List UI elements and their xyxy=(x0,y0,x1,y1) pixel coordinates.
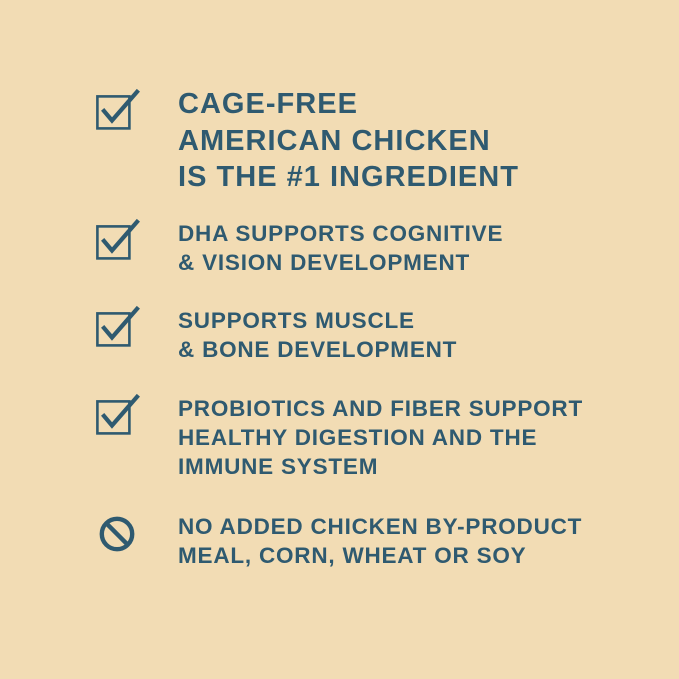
feature-line: MEAL, CORN, WHEAT OR SOY xyxy=(178,541,582,570)
prohibition-icon xyxy=(96,513,144,557)
feature-line: AMERICAN CHICKEN xyxy=(178,123,519,160)
feature-line: & VISION DEVELOPMENT xyxy=(178,248,503,277)
feature-line: DHA SUPPORTS COGNITIVE xyxy=(178,219,503,248)
feature-line: IS THE #1 INGREDIENT xyxy=(178,159,519,196)
feature-text: DHA SUPPORTS COGNITIVE & VISION DEVELOPM… xyxy=(178,219,503,277)
feature-list: CAGE-FREE AMERICAN CHICKEN IS THE #1 ING… xyxy=(0,0,679,679)
feature-text: PROBIOTICS AND FIBER SUPPORT HEALTHY DIG… xyxy=(178,394,583,481)
feature-line: & BONE DEVELOPMENT xyxy=(178,335,457,364)
feature-line: SUPPORTS MUSCLE xyxy=(178,306,457,335)
feature-text: NO ADDED CHICKEN BY-PRODUCT MEAL, CORN, … xyxy=(178,512,582,570)
feature-line: NO ADDED CHICKEN BY-PRODUCT xyxy=(178,512,582,541)
feature-item-dha: DHA SUPPORTS COGNITIVE & VISION DEVELOPM… xyxy=(96,219,503,277)
feature-text: CAGE-FREE AMERICAN CHICKEN IS THE #1 ING… xyxy=(178,86,519,196)
feature-item-muscle-bone: SUPPORTS MUSCLE & BONE DEVELOPMENT xyxy=(96,306,457,364)
checkbox-checked-icon xyxy=(96,220,144,264)
feature-line: IMMUNE SYSTEM xyxy=(178,452,583,481)
product-benefits-panel: CAGE-FREE AMERICAN CHICKEN IS THE #1 ING… xyxy=(0,0,679,679)
feature-line: PROBIOTICS AND FIBER SUPPORT xyxy=(178,394,583,423)
feature-item-cage-free: CAGE-FREE AMERICAN CHICKEN IS THE #1 ING… xyxy=(96,86,519,196)
feature-line: CAGE-FREE xyxy=(178,86,519,123)
checkbox-checked-icon xyxy=(96,395,144,439)
feature-item-probiotics: PROBIOTICS AND FIBER SUPPORT HEALTHY DIG… xyxy=(96,394,583,481)
feature-text: SUPPORTS MUSCLE & BONE DEVELOPMENT xyxy=(178,306,457,364)
checkbox-checked-icon xyxy=(96,307,144,351)
feature-item-no-byproduct: NO ADDED CHICKEN BY-PRODUCT MEAL, CORN, … xyxy=(96,512,582,570)
checkbox-checked-icon xyxy=(96,90,144,134)
feature-line: HEALTHY DIGESTION AND THE xyxy=(178,423,583,452)
